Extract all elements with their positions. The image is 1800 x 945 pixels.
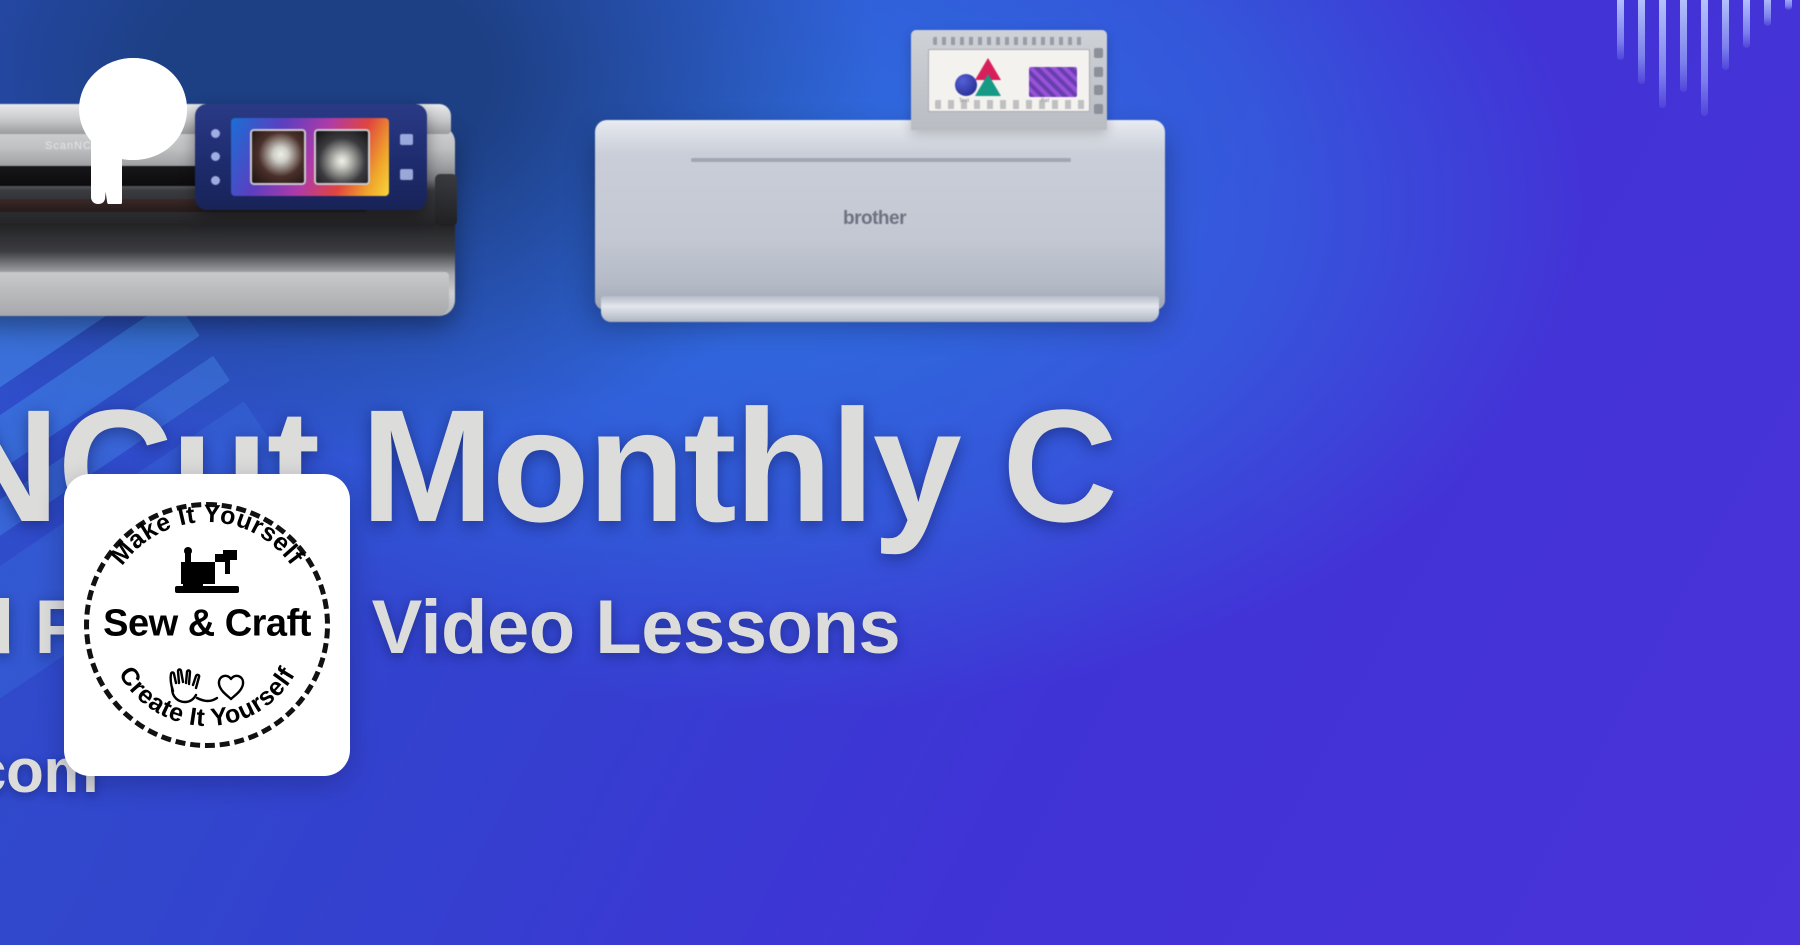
indicator-dot-icon (211, 129, 220, 138)
subline-right-text: Video Lessons (372, 585, 901, 670)
decor-bar (1680, 0, 1687, 92)
lcd-thumbnail (250, 129, 306, 185)
panel-button-icon (1094, 67, 1103, 77)
panel-top-strip (933, 37, 1083, 45)
decor-bar (1701, 0, 1708, 116)
decor-bar (1659, 0, 1666, 108)
patreon-logo-icon[interactable] (70, 56, 188, 204)
machine-lcd-screen: Test Pat (928, 49, 1090, 112)
machine-left-display-shell (195, 104, 427, 210)
shape-triangle-teal-icon (975, 74, 1001, 96)
display-button-icon (400, 169, 413, 180)
lcd-toolbar (935, 100, 1085, 109)
lcd-thumbnail (314, 129, 370, 185)
machine-front-edge (601, 296, 1159, 322)
panel-button-icon (1094, 85, 1103, 95)
display-right-buttons (397, 122, 415, 192)
display-button-icon (400, 134, 413, 145)
panel-button-icon (1094, 48, 1103, 58)
panel-button-icon (1094, 104, 1103, 114)
machine-control-panel: Test Pat (911, 30, 1107, 130)
decor-bar (1785, 0, 1792, 10)
machine-side-knob (435, 174, 457, 226)
vertical-bars-decor (1617, 0, 1792, 116)
machine-lid-seam (691, 158, 1071, 162)
badge-inner: Make It Yourself Create It Yourself (76, 494, 338, 756)
brother-scanncut-machine: brother Test Pat (595, 30, 1175, 325)
decor-bar (1743, 0, 1750, 48)
pattern-swatch (1029, 67, 1077, 97)
badge-center-text: Sew & Craft (76, 603, 338, 646)
indicator-dot-icon (211, 176, 220, 185)
hand-heart-icon (159, 665, 255, 714)
panel-side-buttons (1093, 48, 1103, 114)
decor-bar (1764, 0, 1771, 26)
display-left-indicators (207, 122, 223, 192)
banner-canvas: ScanNCut brother (0, 0, 1800, 945)
sewing-machine-icon (171, 546, 243, 603)
brother-brand-label: brother (843, 208, 906, 230)
machine-base (0, 272, 449, 316)
decor-bar (1638, 0, 1645, 84)
decor-bar (1617, 0, 1624, 60)
indicator-dot-icon (211, 152, 220, 161)
shape-circle-icon (955, 74, 977, 96)
sew-and-craft-badge[interactable]: Make It Yourself Create It Yourself (64, 474, 350, 776)
machine-left-lcd-screen (231, 118, 389, 196)
decor-bar (1722, 0, 1729, 70)
